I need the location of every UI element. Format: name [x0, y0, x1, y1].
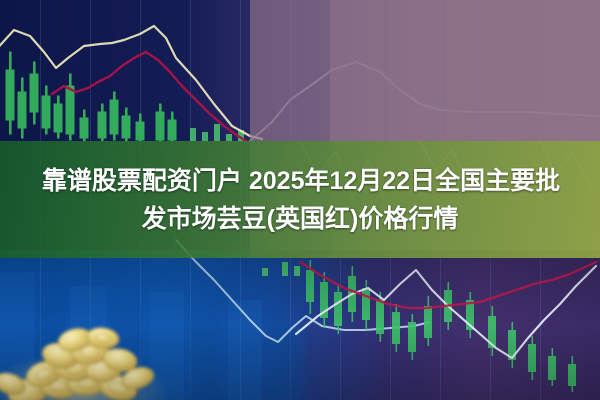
bottom-vignette	[0, 250, 600, 400]
cover-image: 靠谱股票配资门户 2025年12月22日全国主要批 发市场芸豆(英国红)价格行情	[0, 0, 600, 400]
title-line-1: 靠谱股票配资门户 2025年12月22日全国主要批	[42, 162, 560, 200]
page-title: 靠谱股票配资门户 2025年12月22日全国主要批 发市场芸豆(英国红)价格行情	[0, 141, 600, 258]
title-line-2: 发市场芸豆(英国红)价格行情	[142, 200, 459, 238]
